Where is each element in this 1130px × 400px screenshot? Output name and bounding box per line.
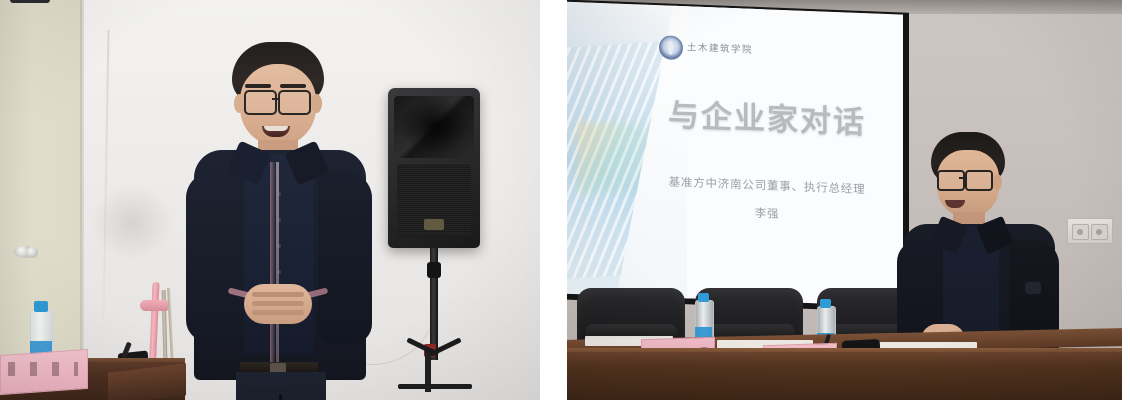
trouser-seam <box>279 394 282 400</box>
university-emblem-icon <box>659 35 683 60</box>
bottle-cap <box>698 293 709 302</box>
bottle-cap <box>820 299 831 308</box>
wall-seam <box>82 0 84 372</box>
ear-right <box>311 94 322 113</box>
slide-image-highlight <box>577 122 647 195</box>
jacket-zipper <box>276 162 279 376</box>
eyeglasses-lens-right <box>278 90 311 115</box>
eyeglasses-lens-left <box>937 170 965 191</box>
conference-table <box>567 352 1122 400</box>
photo-left <box>0 0 540 400</box>
bottle-cap <box>34 301 48 312</box>
eyebrow-right <box>280 84 306 88</box>
eyeglasses-lens-right <box>965 170 993 191</box>
tripod-base <box>398 384 472 389</box>
projection-screen: 土木建筑学院 与企业家对话 基准方中济南公司董事、执行总经理 李强 <box>567 1 903 306</box>
speaker-stand-clamp <box>427 262 441 278</box>
eyebrow-left <box>245 84 271 88</box>
photo-right: 土木建筑学院 与企业家对话 基准方中济南公司董事、执行总经理 李强 <box>567 0 1122 400</box>
eyeglasses-bridge <box>272 98 280 100</box>
pa-loudspeaker <box>388 88 480 248</box>
outlet-socket-right <box>1091 224 1108 240</box>
arm-left <box>186 172 242 342</box>
doorknob-lock-icon <box>26 247 38 258</box>
ear <box>993 174 1002 190</box>
jacket-placket <box>270 162 275 376</box>
name-placard-characters <box>8 362 78 376</box>
eyeglasses-lens-left <box>244 90 277 115</box>
sleeve-pocket <box>1025 282 1041 294</box>
teeth <box>264 126 288 131</box>
speaker-horn <box>394 96 474 158</box>
photo-pair-composition: 土木建筑学院 与企业家对话 基准方中济南公司董事、执行总经理 李强 <box>0 0 1130 400</box>
speaker-person-left <box>178 42 378 400</box>
speaker-brand-logo <box>424 219 444 230</box>
slide-org-name: 土木建筑学院 <box>687 39 753 56</box>
eyeglasses-bridge <box>959 177 966 179</box>
mop-hook <box>140 300 168 311</box>
arm-right <box>318 172 372 344</box>
fingers <box>252 292 304 297</box>
clasped-hands <box>244 284 312 324</box>
slide-title: 与企业家对话 <box>655 89 879 143</box>
speaker-handle <box>10 0 50 3</box>
